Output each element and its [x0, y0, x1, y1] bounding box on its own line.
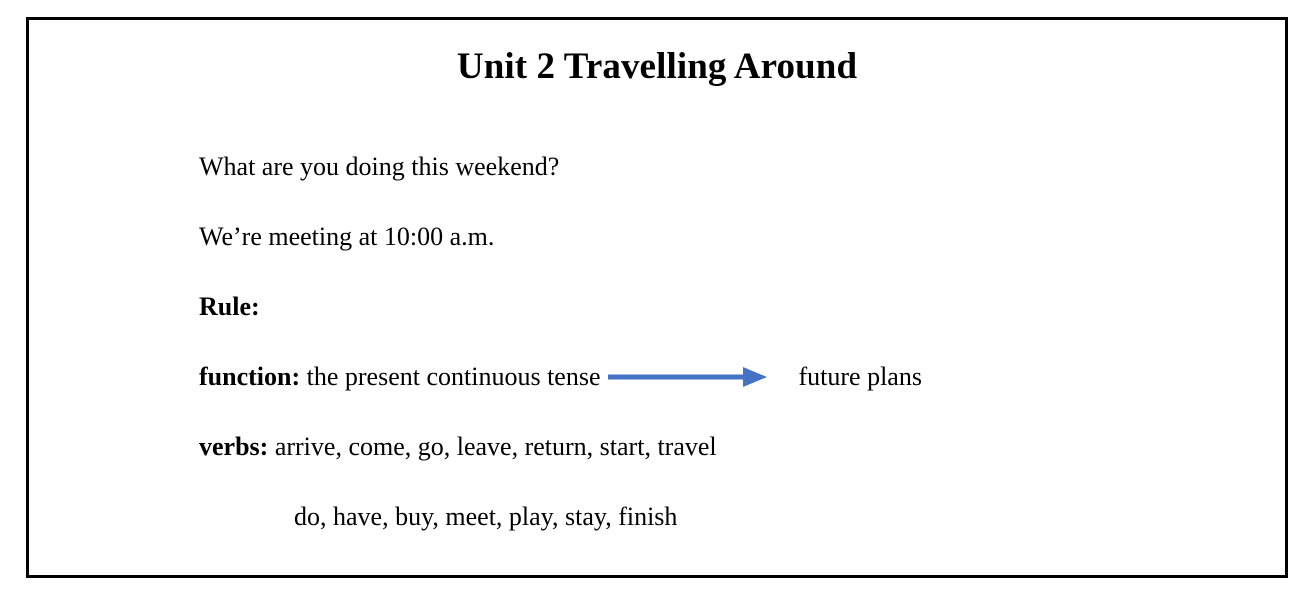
verbs-label: verbs:	[199, 432, 268, 461]
line-question: What are you doing this weekend?	[199, 132, 1259, 202]
line-verbs-2: do, have, buy, meet, play, stay, finish	[199, 482, 1259, 552]
function-label: function:	[199, 362, 300, 391]
rule-heading-text: Rule:	[199, 292, 260, 321]
line-rule-heading: Rule:	[199, 272, 1259, 342]
function-value: the present continuous tense	[307, 342, 601, 412]
page-title: Unit 2 Travelling Around	[29, 47, 1285, 88]
question-text: What are you doing this weekend?	[199, 152, 559, 181]
right-arrow-icon	[607, 364, 792, 390]
line-verbs-1: verbs: arrive, come, go, leave, return, …	[199, 412, 1259, 482]
line-function: function: the present continuous tense f…	[199, 342, 1259, 412]
verbs-list-first: arrive, come, go, leave, return, start, …	[275, 412, 717, 482]
function-result: future plans	[799, 342, 922, 412]
line-example: We’re meeting at 10:00 a.m.	[199, 202, 1259, 272]
slide-frame: Unit 2 Travelling Around What are you do…	[26, 17, 1288, 578]
verbs-list-second: do, have, buy, meet, play, stay, finish	[294, 482, 677, 552]
example-text: We’re meeting at 10:00 a.m.	[199, 222, 494, 251]
slide-body: What are you doing this weekend? We’re m…	[199, 132, 1259, 552]
